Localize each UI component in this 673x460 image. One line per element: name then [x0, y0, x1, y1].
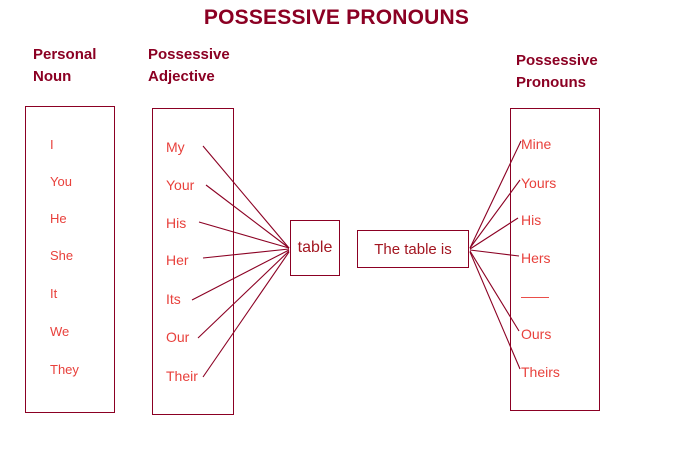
list-item: I	[50, 138, 54, 151]
center-box-noun: table	[290, 220, 340, 276]
list-item: He	[50, 212, 67, 225]
list-item-blank: ——	[521, 289, 549, 303]
list-item: Yours	[521, 176, 556, 190]
heading-possessive-adjective-line1: Possessive	[148, 44, 278, 66]
heading-possessive-pronouns-line1: Possessive	[516, 50, 656, 72]
list-item: Your	[166, 178, 194, 192]
heading-personal-noun: Personal Noun	[33, 44, 143, 88]
list-item: Her	[166, 253, 189, 267]
list-item: Hers	[521, 251, 551, 265]
page-title: POSSESSIVE PRONOUNS	[0, 6, 673, 30]
list-item: She	[50, 249, 73, 262]
list-item: It	[50, 287, 57, 300]
list-item: His	[521, 213, 541, 227]
list-item: They	[50, 363, 79, 376]
heading-possessive-adjective: Possessive Adjective	[148, 44, 278, 88]
heading-possessive-pronouns: Possessive Pronouns	[516, 50, 656, 94]
list-item: Their	[166, 369, 198, 383]
heading-personal-noun-line1: Personal	[33, 44, 143, 66]
list-item: Mine	[521, 137, 551, 151]
center-box-sentence: The table is	[357, 230, 469, 268]
list-item: Our	[166, 330, 189, 344]
list-item: Its	[166, 292, 181, 306]
list-item: You	[50, 175, 72, 188]
list-item: Ours	[521, 327, 551, 341]
list-item: His	[166, 216, 186, 230]
list-item: Theirs	[521, 365, 560, 379]
list-item: My	[166, 140, 185, 154]
diagram-canvas: POSSESSIVE PRONOUNS Personal Noun Posses…	[0, 0, 673, 460]
heading-possessive-adjective-line2: Adjective	[148, 66, 278, 88]
heading-personal-noun-line2: Noun	[33, 66, 143, 88]
list-item: We	[50, 325, 69, 338]
heading-possessive-pronouns-line2: Pronouns	[516, 72, 656, 94]
